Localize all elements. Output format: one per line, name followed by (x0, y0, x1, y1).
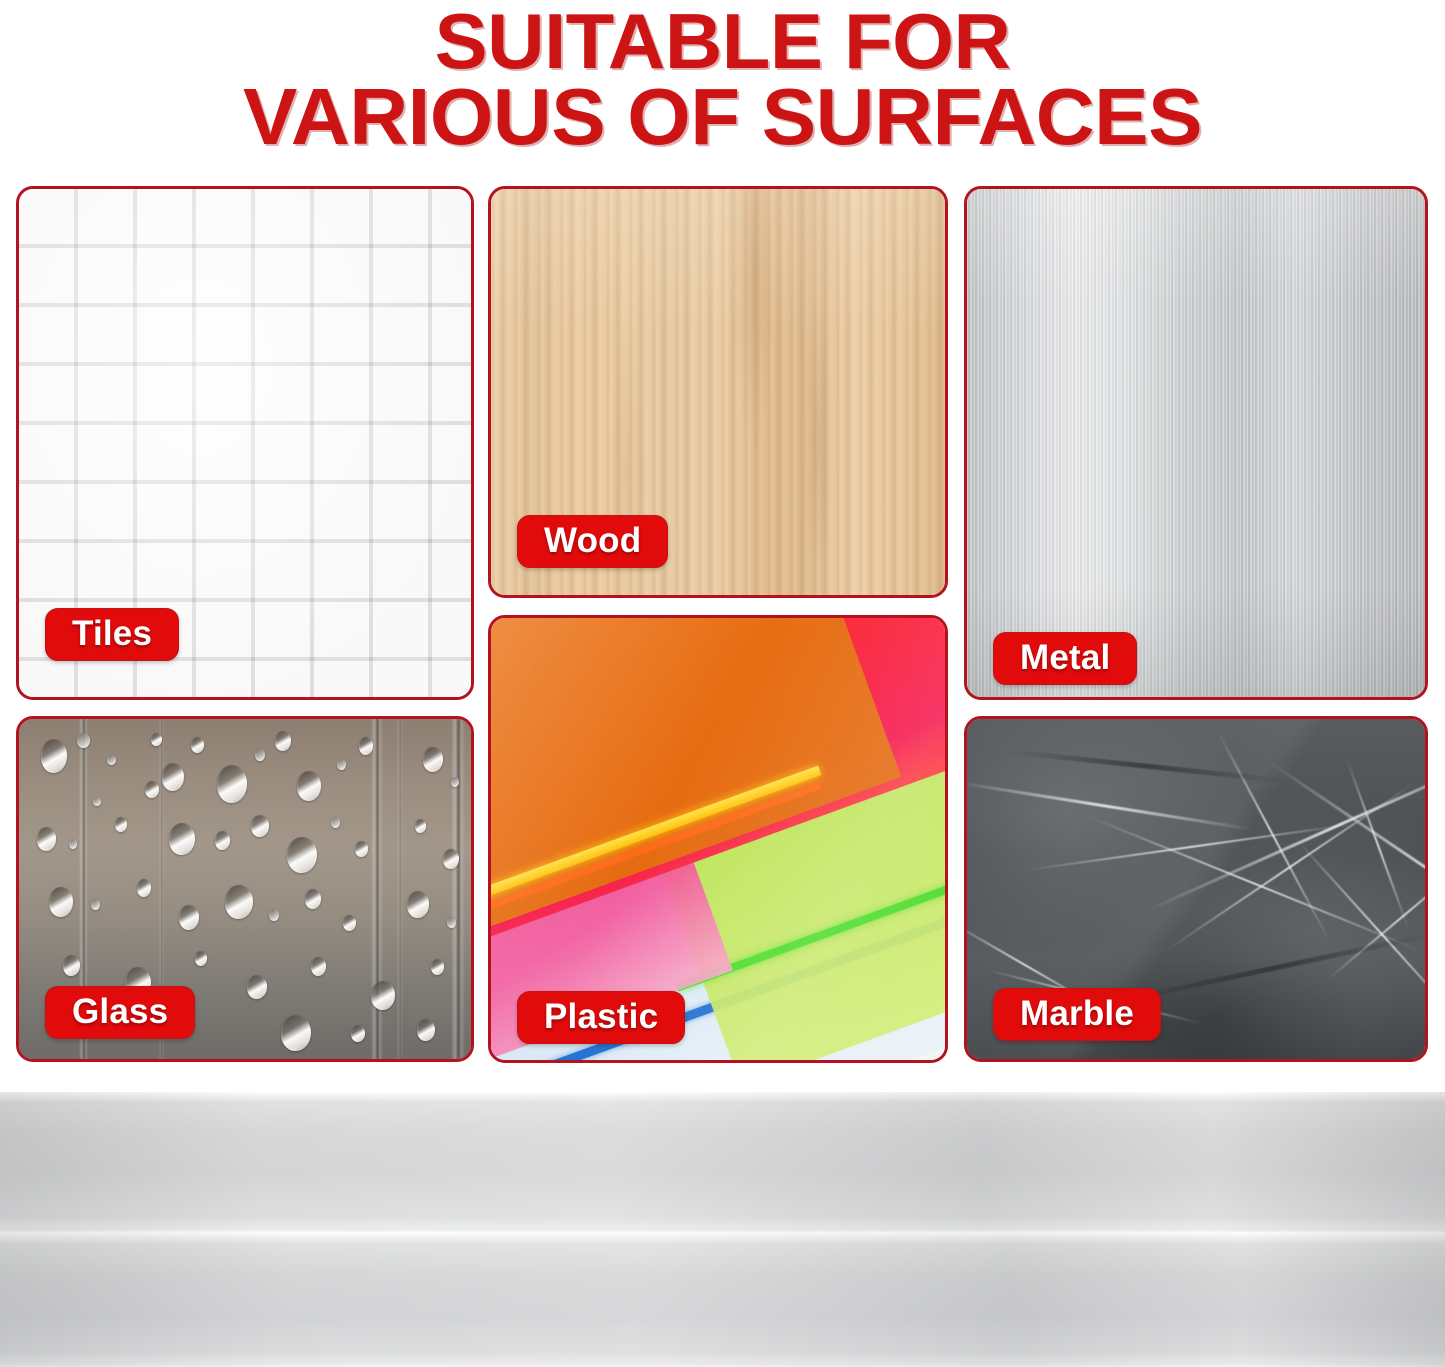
surface-card-marble[interactable]: Marble (964, 716, 1428, 1062)
surface-label-wood: Wood (517, 515, 668, 568)
surface-card-wood[interactable]: Wood (488, 186, 948, 598)
product-shelf-band-lower (0, 1232, 1445, 1367)
surface-label-glass: Glass (45, 986, 195, 1039)
metal-texture (967, 189, 1425, 697)
surface-card-metal[interactable]: Metal (964, 186, 1428, 700)
surface-label-marble: Marble (993, 988, 1161, 1041)
surface-card-tiles[interactable]: Tiles (16, 186, 474, 700)
surface-label-tiles: Tiles (45, 608, 179, 661)
surface-card-glass[interactable]: Glass (16, 716, 474, 1062)
surface-label-plastic: Plastic (517, 991, 685, 1044)
product-shelf-band-upper (0, 1092, 1445, 1232)
surface-label-metal: Metal (993, 632, 1137, 685)
surface-grid: Tiles Wood Metal (0, 0, 1445, 1090)
surface-card-plastic[interactable]: Plastic (488, 615, 948, 1063)
